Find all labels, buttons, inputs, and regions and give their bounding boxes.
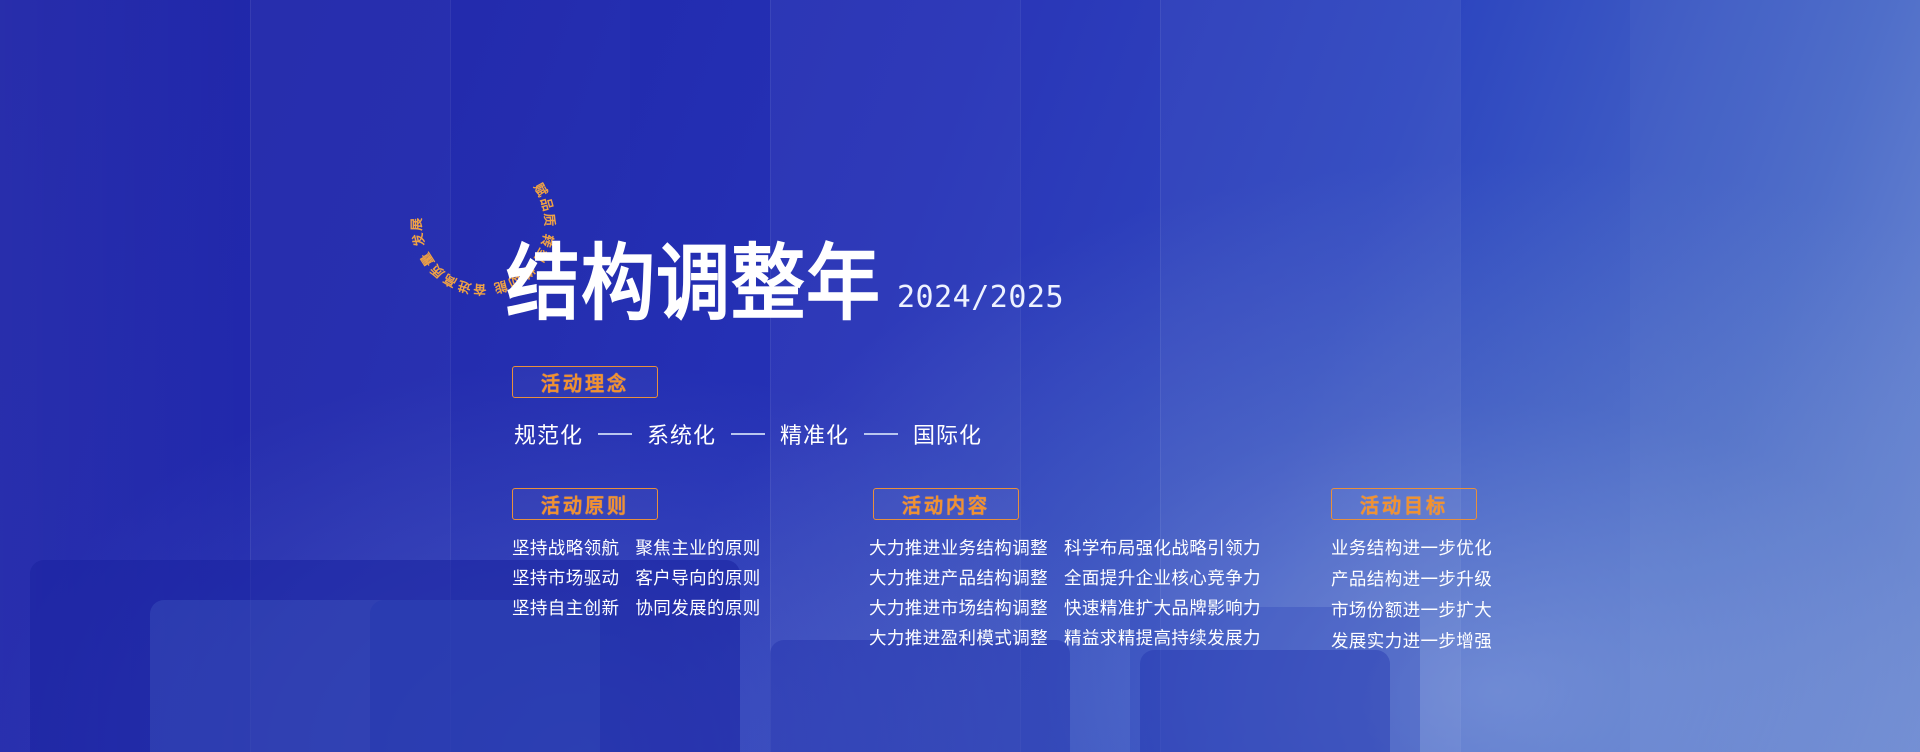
badge-activity-content-label: 活动内容 (902, 490, 990, 518)
list-item: 业务结构进一步优化 (1331, 537, 1492, 559)
badge-activity-goals[interactable]: 活动目标 (1331, 488, 1477, 520)
title-row: 结构调整年 2024/2025 (506, 253, 1064, 323)
content-row-0-right: 科学布局强化战略引领力 (1064, 537, 1261, 559)
goals-row-3: 发展实力进一步增强 (1331, 630, 1492, 652)
list-item: 大力推进盈利模式调整 精益求精提高持续发展力 (869, 627, 1261, 649)
list-item: 坚持自主创新 协同发展的原则 (512, 597, 761, 619)
idea-separator-1 (731, 433, 765, 435)
goals-row-1: 产品结构进一步升级 (1331, 568, 1492, 590)
list-item: 产品结构进一步升级 (1331, 568, 1492, 590)
badge-activity-goals-label: 活动目标 (1360, 490, 1448, 518)
content-row-3-left: 大力推进盈利模式调整 (869, 627, 1048, 649)
principles-row-1-right: 客户导向的原则 (635, 567, 760, 589)
title-years: 2024/2025 (897, 280, 1064, 323)
content-row-2-right: 快速精准扩大品牌影响力 (1064, 597, 1261, 619)
idea-separator-0 (598, 433, 632, 435)
badge-activity-content[interactable]: 活动内容 (873, 488, 1019, 520)
idea-item-0: 规范化 (512, 418, 585, 450)
content-row-0-left: 大力推进业务结构调整 (869, 537, 1048, 559)
idea-item-1: 系统化 (645, 418, 718, 450)
badge-activity-principles-label: 活动原则 (541, 490, 629, 518)
badge-activity-idea-label: 活动理念 (541, 368, 629, 396)
goals-row-2: 市场份额进一步扩大 (1331, 599, 1492, 621)
content-column: 大力推进业务结构调整 科学布局强化战略引领力 大力推进产品结构调整 全面提升企业… (869, 537, 1261, 657)
content-row-1-left: 大力推进产品结构调整 (869, 567, 1048, 589)
banner-stage: 赋品质 转型 增动能 奋进高质量 发展新征程 结构调整年 2024/2025 活… (0, 0, 1920, 752)
goals-column: 业务结构进一步优化 产品结构进一步升级 市场份额进一步扩大 发展实力进一步增强 (1331, 537, 1492, 661)
list-item: 市场份额进一步扩大 (1331, 599, 1492, 621)
badge-activity-principles[interactable]: 活动原则 (512, 488, 658, 520)
principles-column: 坚持战略领航 聚焦主业的原则 坚持市场驱动 客户导向的原则 坚持自主创新 协同发… (512, 537, 761, 627)
page-title: 结构调整年 (506, 245, 881, 324)
content-row-1-right: 全面提升企业核心竞争力 (1064, 567, 1261, 589)
principles-row-2-right: 协同发展的原则 (635, 597, 760, 619)
list-item: 大力推进市场结构调整 快速精准扩大品牌影响力 (869, 597, 1261, 619)
principles-row-2-left: 坚持自主创新 (512, 597, 619, 619)
list-item: 发展实力进一步增强 (1331, 630, 1492, 652)
idea-item-2: 精准化 (778, 418, 851, 450)
idea-separator-2 (864, 433, 898, 435)
list-item: 大力推进业务结构调整 科学布局强化战略引领力 (869, 537, 1261, 559)
principles-row-1-left: 坚持市场驱动 (512, 567, 619, 589)
list-item: 大力推进产品结构调整 全面提升企业核心竞争力 (869, 567, 1261, 589)
content-row-2-left: 大力推进市场结构调整 (869, 597, 1048, 619)
content-row-3-right: 精益求精提高持续发展力 (1064, 627, 1261, 649)
idea-item-3: 国际化 (911, 418, 984, 450)
idea-tagline: 规范化 系统化 精准化 国际化 (512, 418, 984, 450)
list-item: 坚持市场驱动 客户导向的原则 (512, 567, 761, 589)
badge-activity-idea[interactable]: 活动理念 (512, 366, 658, 398)
goals-row-0: 业务结构进一步优化 (1331, 537, 1492, 559)
principles-row-0-right: 聚焦主业的原则 (635, 537, 760, 559)
list-item: 坚持战略领航 聚焦主业的原则 (512, 537, 761, 559)
principles-row-0-left: 坚持战略领航 (512, 537, 619, 559)
